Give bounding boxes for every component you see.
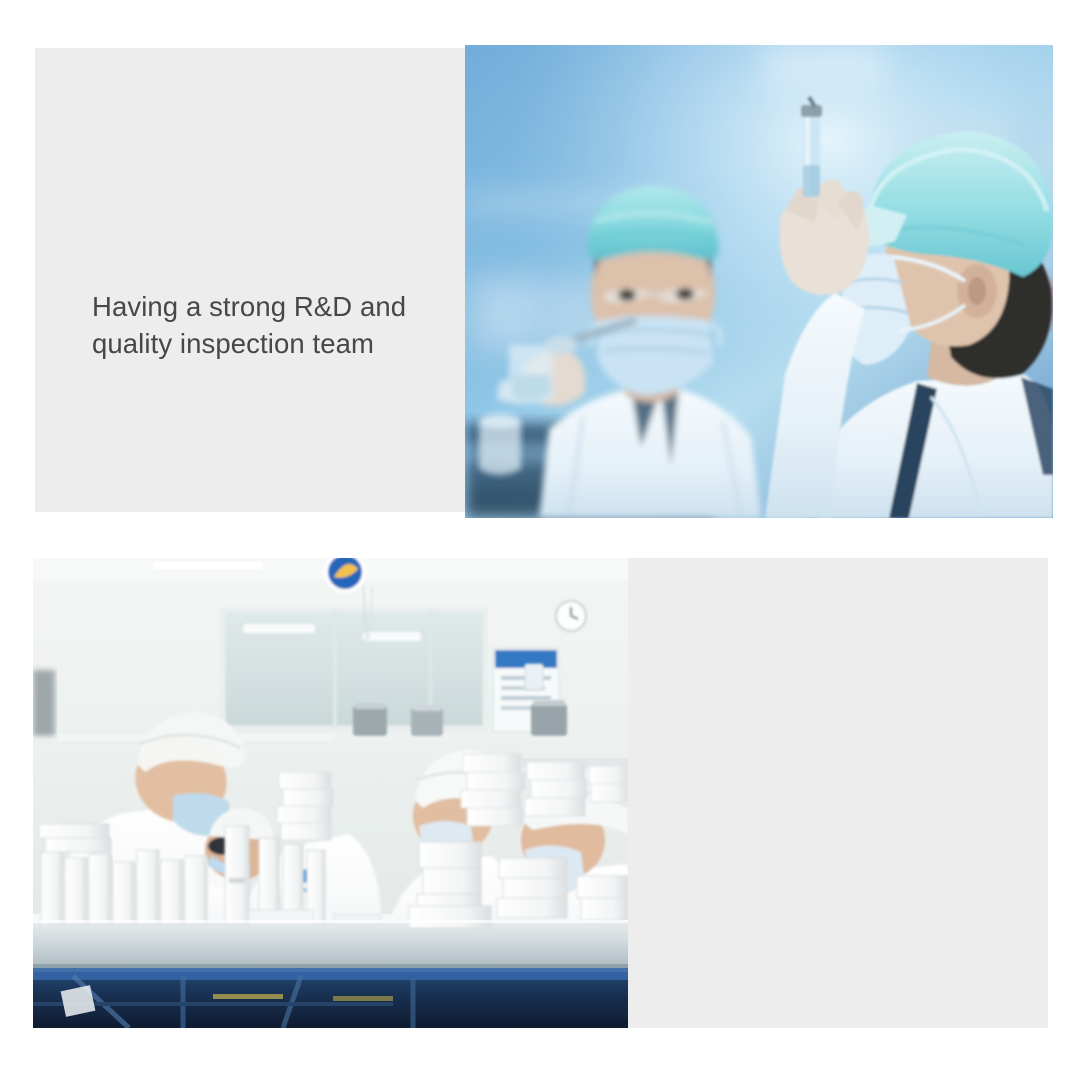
page-root: Having a strong R&D and quality inspecti… — [0, 0, 1080, 1080]
lab-inspection-photo — [465, 45, 1053, 518]
section-warehouse: a warehouse distribution area a warehous… — [0, 530, 1080, 1080]
top-caption-panel: Having a strong R&D and quality inspecti… — [35, 48, 465, 512]
warehouse-packing-photo-art — [33, 558, 628, 1028]
top-caption-text: Having a strong R&D and quality inspecti… — [92, 288, 492, 362]
lab-inspection-photo-art — [465, 45, 1053, 518]
section-rnd-quality: Having a strong R&D and quality inspecti… — [0, 0, 1080, 530]
bottom-caption-panel: a warehouse distribution area a warehous… — [628, 558, 1048, 1028]
warehouse-packing-photo — [33, 558, 628, 1028]
